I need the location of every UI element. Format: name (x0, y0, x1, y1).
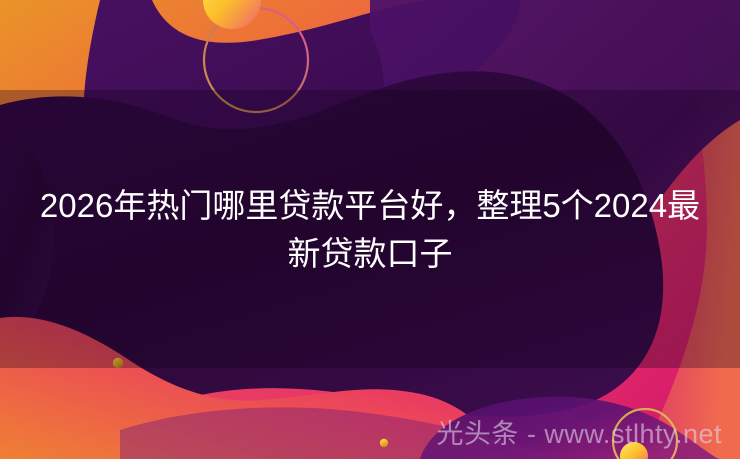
article-cover-image: 2026年热门哪里贷款平台好，整理5个2024最新贷款口子 光头条 - www.… (0, 0, 740, 459)
background-artwork (0, 0, 740, 459)
yellow-dot-left (113, 358, 123, 368)
yellow-dot-bottom (380, 439, 388, 447)
